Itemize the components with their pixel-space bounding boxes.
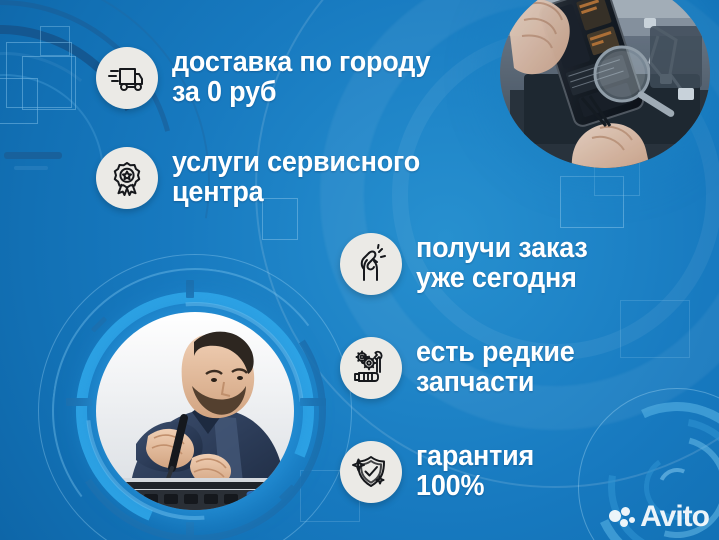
avito-logo-icon (609, 507, 635, 528)
decor-bar (14, 166, 48, 170)
delivery-truck-icon (96, 47, 158, 109)
avito-brand-text: Avito (640, 502, 709, 532)
avito-watermark: Avito (609, 502, 709, 532)
feature-same-day: получи заказ уже сегодня (340, 233, 601, 295)
feature-service-center: услуги сервисного центра (96, 147, 439, 209)
hand-wrench-gears-icon (340, 337, 402, 399)
technician-photo (96, 312, 294, 510)
decor-rect (620, 300, 690, 358)
decor-rect (40, 26, 70, 56)
phone-repair-photo (500, 0, 710, 168)
decor-bar (4, 152, 62, 159)
feature-label: гарантия 100% (416, 442, 534, 501)
feature-label: доставка по городу за 0 руб (172, 48, 430, 107)
shield-check-icon (340, 441, 402, 503)
feature-warranty: гарантия 100% (340, 441, 543, 503)
feature-rare-parts: есть редкие запчасти (340, 337, 586, 399)
promo-banner: доставка по городу за 0 руб услуги серви… (0, 0, 719, 540)
decor-rect (22, 56, 76, 110)
feature-label: получи заказ уже сегодня (416, 234, 588, 293)
decor-rect (0, 78, 38, 124)
decor-rect (560, 176, 624, 228)
feature-label: есть редкие запчасти (416, 338, 575, 397)
technician-photo-frame (60, 278, 330, 540)
feature-label: услуги сервисного центра (172, 148, 420, 207)
snapping-fingers-icon (340, 233, 402, 295)
feature-delivery: доставка по городу за 0 руб (96, 47, 450, 109)
award-badge-icon (96, 147, 158, 209)
decor-rect (6, 42, 72, 108)
